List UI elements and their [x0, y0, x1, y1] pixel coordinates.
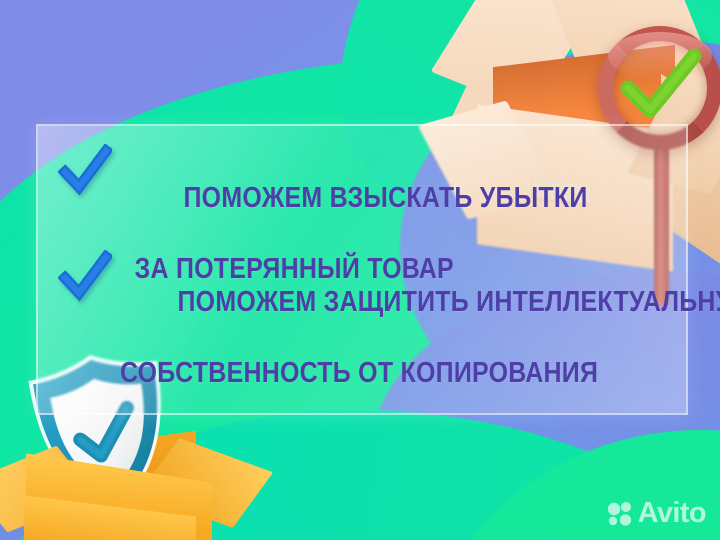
benefit-item: ПОМОЖЕМ ЗАЩИТИТЬ ИНТЕЛЛЕКТУАЛЬНУЮ СОБСТВ…: [58, 248, 720, 462]
benefits-content: ПОМОЖЕМ ВЗЫСКАТЬ УБЫТКИ ЗА ПОТЕРЯННЫЙ ТО…: [36, 124, 684, 411]
avito-watermark: Avito: [607, 499, 706, 528]
benefit-line-2: СОБСТВЕННОСТЬ ОТ КОПИРОВАНИЯ: [120, 356, 720, 391]
banner-canvas: ПОМОЖЕМ ВЗЫСКАТЬ УБЫТКИ ЗА ПОТЕРЯННЫЙ ТО…: [0, 0, 720, 540]
check-icon: [58, 250, 112, 304]
avito-dots-icon: [607, 501, 633, 527]
green-check-icon: [618, 48, 702, 128]
avito-wordmark: Avito: [638, 499, 706, 528]
benefit-line-1: ПОМОЖЕМ ВЗЫСКАТЬ УБЫТКИ: [183, 182, 587, 214]
benefit-text: ПОМОЖЕМ ЗАЩИТИТЬ ИНТЕЛЛЕКТУАЛЬНУЮ СОБСТВ…: [120, 248, 720, 462]
benefit-line-1: ПОМОЖЕМ ЗАЩИТИТЬ ИНТЕЛЛЕКТУАЛЬНУЮ: [177, 286, 720, 318]
check-icon: [58, 144, 112, 198]
